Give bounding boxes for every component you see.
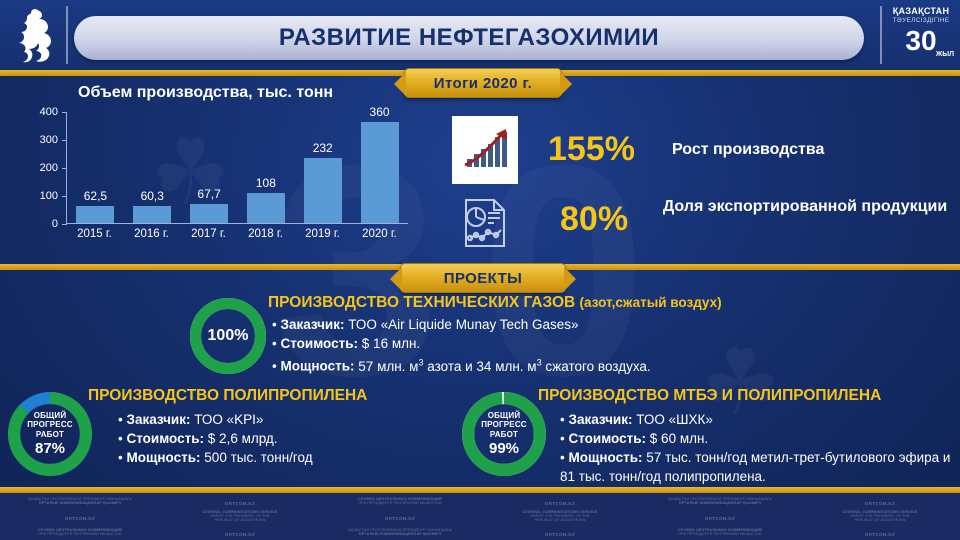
list-item: • Стоимость: $ 16 млн. — [272, 334, 952, 353]
kpi-value-export: 80% — [560, 200, 628, 239]
page-title-text: РАЗВИТИЕ НЕФТЕГАЗОХИМИИ — [279, 24, 659, 52]
footer-watermark-text: ҚАЗАҚСТАН РЕСПУБЛИКАСЫ ПРЕЗИДЕНТІ ЖАНЫНД… — [640, 497, 800, 505]
logo-line-1: ҚАЗАҚСТАН — [886, 6, 956, 16]
project-details-gases: • Заказчик: ТОО «Air Liquide Munay Tech … — [272, 315, 952, 376]
banner-results-2020: Итоги 2020 г. — [404, 68, 562, 98]
ring-caption-line3: РАБОТ — [36, 430, 64, 440]
chart-y-tick: 0 — [52, 218, 58, 230]
footer-watermark-text: СЛУЖБА ЦЕНТРАЛЬНЫХ КОММУНИКАЦИЙПРИ ПРЕЗИ… — [640, 528, 800, 536]
chart-bar-cell: 360 — [351, 112, 408, 223]
production-bar-chart: 0100200300400 62,560,367,7108232360 2015… — [28, 112, 408, 252]
footer-watermark-text: CENTRAL COMMUNICATIONS SERVICEUNDER THE … — [800, 510, 960, 522]
footer-watermark-text: CENTRAL COMMUNICATIONS SERVICEUNDER THE … — [160, 510, 320, 522]
footer-watermark-text: ORTCOM.KZ — [160, 493, 320, 510]
chart-bar-cell: 232 — [294, 112, 351, 223]
footer-watermark-text: ORTCOM.KZ — [320, 507, 480, 525]
chevron-left-icon — [390, 267, 402, 291]
list-item: • Заказчик: ТОО «Air Liquide Munay Tech … — [272, 315, 952, 334]
report-document-icon — [448, 190, 518, 256]
chart-bar — [133, 206, 171, 223]
chart-y-tick: 100 — [40, 190, 58, 202]
progress-ring-gases: 100% — [190, 298, 266, 374]
ring-caption-line2: ПРОГРЕСС — [481, 420, 527, 430]
footer-watermark-text: СЛУЖБА ЦЕНТРАЛЬНЫХ КОММУНИКАЦИЙПРИ ПРЕЗИ… — [320, 497, 480, 505]
chart-bar — [304, 158, 342, 223]
logo-line-2: ТӘУЕЛСІЗДІГІНЕ — [886, 16, 956, 25]
project-heading-polypropylene: ПРОИЗВОДСТВО ПОЛИПРОПИЛЕНА — [88, 387, 367, 405]
chart-bar-value: 60,3 — [124, 189, 181, 203]
footer-watermark-text: ORTCOM.KZ — [640, 507, 800, 525]
project-heading-gases: ПРОИЗВОДСТВО ТЕХНИЧЕСКИХ ГАЗОВ (азот,сжа… — [268, 294, 722, 312]
chevron-left-icon — [394, 72, 406, 96]
banner-projects-label: ПРОЕКТЫ — [444, 270, 522, 287]
ring-caption-line1: ОБЩИЙ — [488, 411, 521, 421]
footer-row: ҚАЗАҚСТАН РЕСПУБЛИКАСЫ ПРЕЗИДЕНТІ ЖАНЫНД… — [0, 493, 960, 509]
kpi-label-growth: Рост производства — [672, 141, 824, 159]
chart-x-tick: 2018 г. — [237, 228, 294, 240]
chart-bar-value: 232 — [294, 141, 351, 155]
chart-x-axis-labels: 2015 г.2016 г.2017 г.2018 г.2019 г.2020 … — [66, 228, 408, 240]
list-item: • Стоимость: $ 60 млн. — [560, 429, 955, 448]
chart-bar-value: 360 — [351, 105, 408, 119]
kpi-label-export: Доля экспортированной продукции — [660, 196, 950, 217]
footer-watermark-text: ҚАЗАҚСТАН РЕСПУБЛИКАСЫ ПРЕЗИДЕНТІ ЖАНЫНД… — [0, 497, 160, 505]
footer-watermark-text: CENTRAL COMMUNICATIONS SERVICEUNDER THE … — [480, 510, 640, 522]
footer-watermark-text: ORTCOM.KZ — [800, 523, 960, 540]
project-heading-mtbe: ПРОИЗВОДСТВО МТБЭ И ПОЛИПРОПИЛЕНА — [538, 387, 881, 405]
chart-y-tickmark — [62, 168, 67, 169]
logo-number: 30 ЖЫЛ — [886, 26, 956, 56]
footer-watermark-text: СЛУЖБА ЦЕНТРАЛЬНЫХ КОММУНИКАЦИЙПРИ ПРЕЗИ… — [0, 528, 160, 536]
list-item: • Стоимость: $ 2,6 млрд. — [118, 429, 458, 448]
list-item: • Мощность: 500 тыс. тонн/год — [118, 448, 458, 467]
chart-y-tickmark — [62, 112, 67, 113]
page-title: РАЗВИТИЕ НЕФТЕГАЗОХИМИИ — [74, 16, 864, 60]
chart-x-tick: 2020 г. — [351, 228, 408, 240]
footer-watermark-text: ORTCOM.KZ — [160, 523, 320, 540]
ring-percent-mtbe: 99% — [489, 440, 519, 457]
kpi-value-growth: 155% — [548, 130, 635, 169]
chart-bar-cell: 108 — [237, 112, 294, 223]
ring-caption-line3: РАБОТ — [490, 430, 518, 440]
list-item: • Заказчик: ТОО «ШХК» — [560, 410, 955, 429]
chart-y-tickmark — [62, 224, 67, 225]
chevron-right-icon — [560, 72, 572, 96]
footer-watermark-text: ORTCOM.KZ — [480, 523, 640, 540]
footer-watermark-text: ORTCOM.KZ — [480, 493, 640, 510]
slide-root: 30 ☘ ☘ РАЗВИТИЕ НЕФТЕГАЗОХИМИИ ҚАЗАҚСТАН… — [0, 0, 960, 540]
ring-caption-line2: ПРОГРЕСС — [27, 420, 73, 430]
footer-watermark-text: ҚАЗАҚСТАН РЕСПУБЛИКАСЫ ПРЕЗИДЕНТІ ЖАНЫНД… — [320, 528, 480, 536]
list-item: • Мощность: 57 тыс. тонн/год метил-трет-… — [560, 448, 955, 486]
header-divider-left — [66, 6, 68, 64]
chart-x-tick: 2017 г. — [180, 228, 237, 240]
chart-bar — [76, 206, 114, 224]
list-item: • Заказчик: ТОО «KPI» — [118, 410, 458, 429]
chart-bar-value: 108 — [237, 176, 294, 190]
footer-watermark-text: ORTCOM.KZ — [0, 507, 160, 525]
chart-y-tickmark — [62, 196, 67, 197]
list-item: • Мощность: 57 млн. м3 азота и 34 млн. м… — [272, 353, 952, 376]
project-details-polypropylene: • Заказчик: ТОО «KPI» • Стоимость: $ 2,6… — [118, 410, 458, 467]
footer-watermark-band: ҚАЗАҚСТАН РЕСПУБЛИКАСЫ ПРЕЗИДЕНТІ ЖАНЫНД… — [0, 493, 960, 540]
slide-header: РАЗВИТИЕ НЕФТЕГАЗОХИМИИ ҚАЗАҚСТАН ТӘУЕЛС… — [0, 0, 960, 70]
chart-bar — [361, 122, 399, 223]
chart-bar-cell: 67,7 — [181, 112, 238, 223]
chart-x-tick: 2019 г. — [294, 228, 351, 240]
banner-projects: ПРОЕКТЫ — [400, 263, 566, 293]
anniversary-logo: ҚАЗАҚСТАН ТӘУЕЛСІЗДІГІНЕ 30 ЖЫЛ — [886, 6, 956, 66]
ring-caption-line1: ОБЩИЙ — [34, 411, 67, 421]
ring-percent-gases: 100% — [208, 327, 249, 345]
chart-bar — [190, 204, 228, 223]
chart-y-tick: 400 — [40, 106, 58, 118]
chart-y-tickmark — [62, 140, 67, 141]
footer-row: ORTCOM.KZCENTRAL COMMUNICATIONS SERVICEU… — [0, 509, 960, 525]
chart-x-tick: 2015 г. — [66, 228, 123, 240]
barys-ornament-icon — [6, 4, 62, 68]
chart-y-tick: 200 — [40, 162, 58, 174]
project-details-mtbe: • Заказчик: ТОО «ШХК» • Стоимость: $ 60 … — [560, 410, 955, 486]
chart-bar-cell: 60,3 — [124, 112, 181, 223]
footer-row: СЛУЖБА ЦЕНТРАЛЬНЫХ КОММУНИКАЦИЙПРИ ПРЕЗИ… — [0, 524, 960, 540]
chart-bar-value: 67,7 — [181, 187, 238, 201]
logo-unit: ЖЫЛ — [936, 40, 954, 70]
chart-x-tick: 2016 г. — [123, 228, 180, 240]
chart-bar-value: 62,5 — [67, 189, 124, 203]
chart-title: Объем производства, тыс. тонн — [78, 84, 333, 102]
chart-y-axis: 0100200300400 — [28, 112, 62, 224]
chart-bar-cell: 62,5 — [67, 112, 124, 223]
header-divider-right — [880, 6, 882, 64]
banner-results-label: Итоги 2020 г. — [434, 75, 532, 92]
chart-plot-area: 62,560,367,7108232360 — [66, 112, 408, 224]
chart-y-tick: 300 — [40, 134, 58, 146]
progress-ring-mtbe: ОБЩИЙ ПРОГРЕСС РАБОТ 99% — [462, 392, 546, 476]
chart-bar — [247, 193, 285, 223]
chevron-right-icon — [564, 267, 576, 291]
progress-ring-polypropylene: ОБЩИЙ ПРОГРЕСС РАБОТ 87% — [8, 392, 92, 476]
growth-chart-icon — [452, 116, 518, 184]
ring-percent-polypropylene: 87% — [35, 440, 65, 457]
footer-watermark-text: ORTCOM.KZ — [800, 493, 960, 510]
